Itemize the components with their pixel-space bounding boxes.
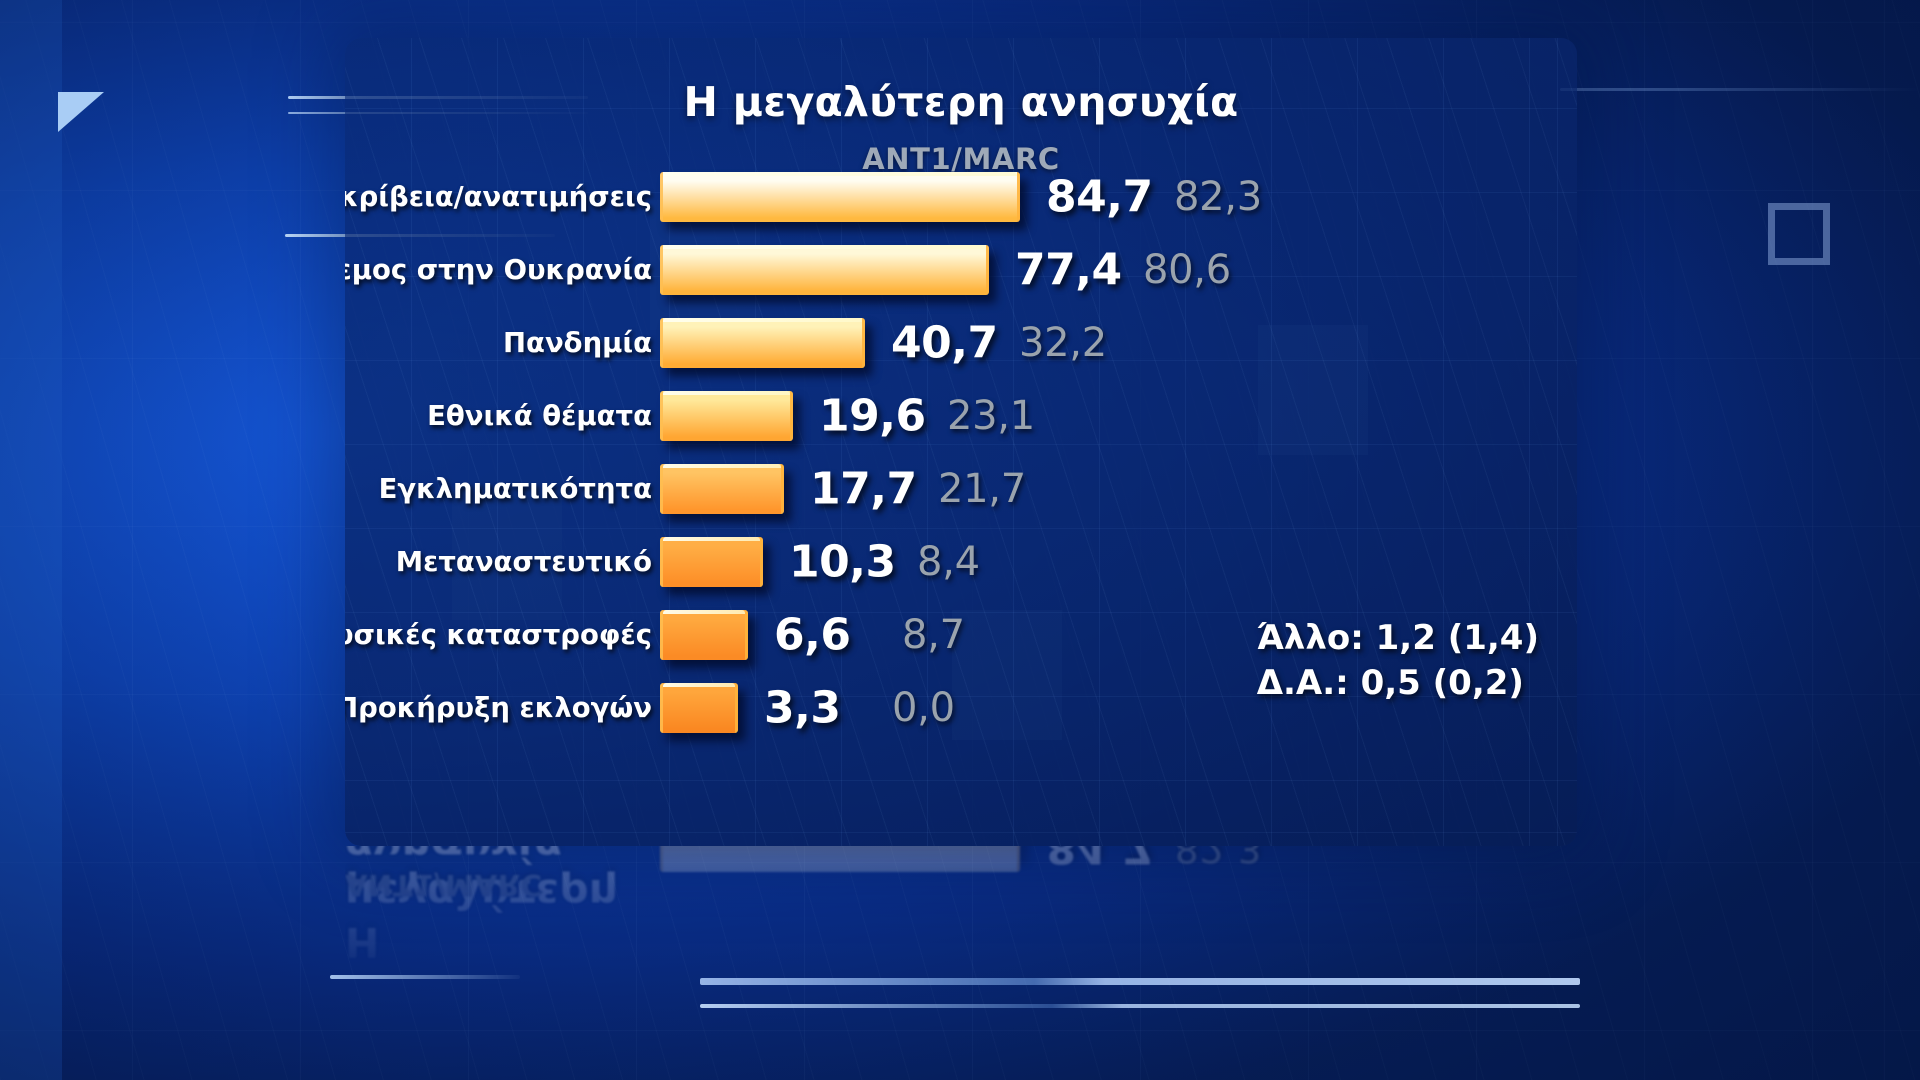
bar-track <box>660 610 748 660</box>
bar <box>660 391 793 441</box>
bar-value-previous: 23,1 <box>947 393 1035 439</box>
bar-value-current: 84,7 <box>1046 171 1153 222</box>
bar-track <box>660 537 763 587</box>
decor-line-icon <box>1560 88 1920 91</box>
bar-track <box>660 683 738 733</box>
bar <box>660 683 738 733</box>
bar-value-previous: 82,3 <box>1174 174 1262 220</box>
bar-value-current: 19,6 <box>819 390 926 441</box>
bar-row: Μεταναστευτικό10,38,4 <box>345 525 1577 598</box>
bar <box>660 318 865 368</box>
bar-value-current: 6,6 <box>774 609 850 660</box>
bar-value-current: 3,3 <box>764 682 840 733</box>
bar-value-previous: 8,4 <box>917 539 980 585</box>
bar-row-label: Ακρίβεια/ανατιμήσεις <box>345 181 652 213</box>
bar <box>660 464 784 514</box>
decor-line-icon <box>700 978 1580 985</box>
bar-row: Πανδημία40,732,2 <box>345 306 1577 379</box>
footnote-other: Άλλο: 1,2 (1,4) <box>1257 616 1539 661</box>
bar-row-label: Φυσικές καταστροφές <box>345 619 652 651</box>
triangle-icon <box>58 92 104 132</box>
bar-track <box>660 245 989 295</box>
bar-row-label: Εγκληματικότητα <box>379 473 652 505</box>
bar-value-previous: 80,6 <box>1143 247 1231 293</box>
bar <box>660 172 1020 222</box>
bar-row-label: Πόλεμος στην Ουκρανία <box>345 254 652 286</box>
bar-track <box>660 464 784 514</box>
bar-row-label: Προκήρυξη εκλογών <box>345 692 652 724</box>
bar-value-current: 10,3 <box>789 536 896 587</box>
bar <box>660 245 989 295</box>
bar-value-previous: 0,0 <box>892 685 955 731</box>
footnotes: Άλλο: 1,2 (1,4) Δ.Α.: 0,5 (0,2) <box>1257 616 1539 706</box>
bar-value-current: 40,7 <box>891 317 998 368</box>
bar-row-label: Εθνικά θέματα <box>427 400 652 432</box>
bar-value-previous: 8,7 <box>902 612 965 658</box>
bar-value-current: 17,7 <box>810 463 917 514</box>
chart-panel: Η μεγαλύτερη ανησυχία ANT1/MARC Ακρίβεια… <box>345 38 1577 846</box>
bar-row: Ακρίβεια/ανατιμήσεις84,782,3 <box>345 160 1577 233</box>
bar-track <box>660 172 1020 222</box>
bar-track <box>660 318 865 368</box>
footnote-dont-know: Δ.Α.: 0,5 (0,2) <box>1257 661 1539 706</box>
bar <box>660 537 763 587</box>
decor-line-icon <box>700 1004 1580 1008</box>
page-title: Η μεγαλύτερη ανησυχία <box>345 78 1577 126</box>
bar-value-previous: 32,2 <box>1019 320 1107 366</box>
bar-row-label: Μεταναστευτικό <box>396 546 652 578</box>
bar <box>660 610 748 660</box>
bar-row-label: Πανδημία <box>503 327 652 359</box>
bar-value-previous: 21,7 <box>938 466 1026 512</box>
bar-row: Εγκληματικότητα17,721,7 <box>345 452 1577 525</box>
bar-row: Εθνικά θέματα19,623,1 <box>345 379 1577 452</box>
decor-line-icon <box>330 975 520 979</box>
square-outline-icon <box>1768 203 1830 265</box>
bar-row: Πόλεμος στην Ουκρανία77,480,6 <box>345 233 1577 306</box>
bar-value-current: 77,4 <box>1015 244 1122 295</box>
bar-track <box>660 391 793 441</box>
